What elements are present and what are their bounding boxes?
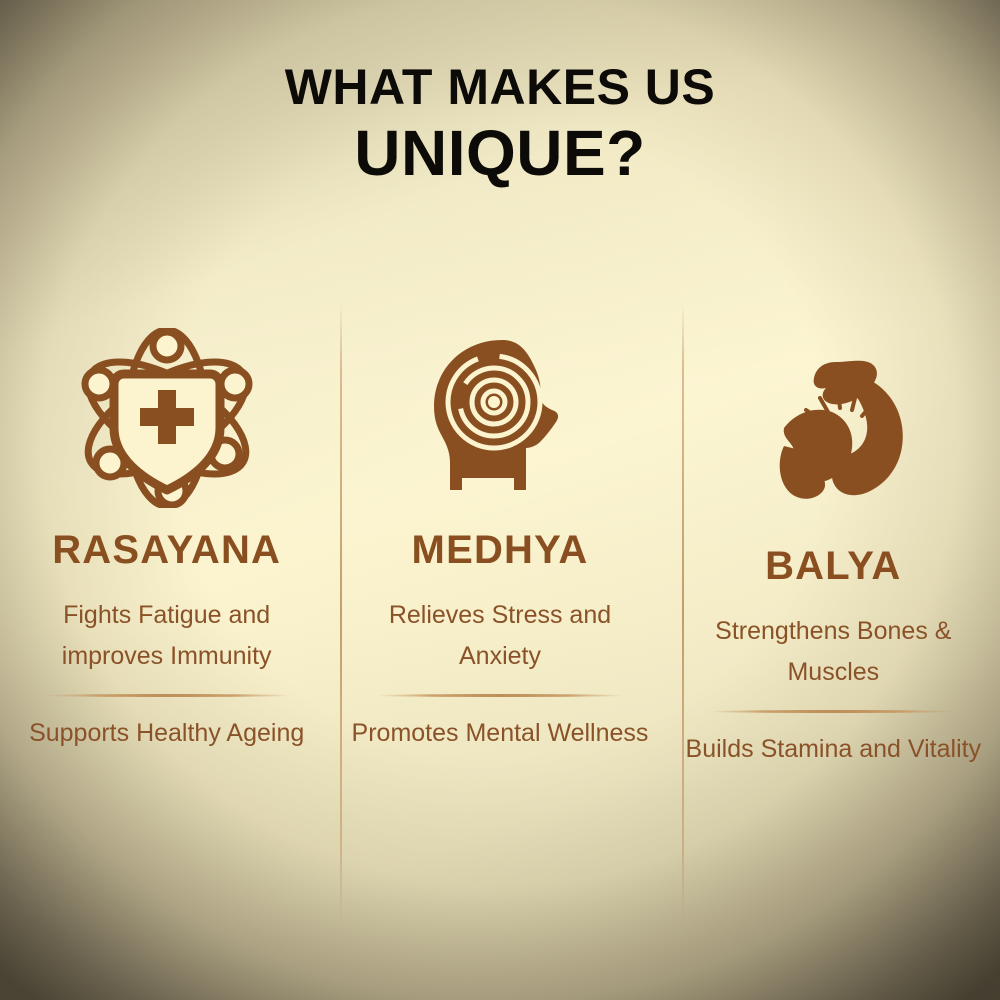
benefit-divider-medhya: [376, 694, 624, 697]
benefit-column-medhya: MEDHYA Relieves Stress and Anxiety Promo…: [333, 300, 666, 940]
benefit-divider-rasayana: [43, 694, 291, 697]
benefit-columns: RASAYANA Fights Fatigue and improves Imm…: [0, 300, 1000, 940]
benefit-primary-balya: Strengthens Bones & Muscles: [683, 611, 983, 692]
benefit-column-rasayana: RASAYANA Fights Fatigue and improves Imm…: [0, 300, 333, 940]
benefit-primary-medhya: Relieves Stress and Anxiety: [350, 595, 650, 676]
benefit-secondary-rasayana: Supports Healthy Ageing: [17, 713, 317, 754]
benefit-secondary-medhya: Promotes Mental Wellness: [350, 713, 650, 754]
column-title-medhya: MEDHYA: [412, 528, 589, 573]
title-line-2: UNIQUE?: [0, 118, 1000, 190]
shield-atom-immunity-icon: [62, 318, 272, 518]
title-line-1: WHAT MAKES US: [0, 62, 1000, 112]
column-title-balya: BALYA: [765, 544, 901, 589]
benefit-primary-rasayana: Fights Fatigue and improves Immunity: [17, 595, 317, 676]
flexed-bicep-muscle-icon: [748, 334, 918, 534]
page-title: WHAT MAKES US UNIQUE?: [0, 62, 1000, 190]
column-title-rasayana: RASAYANA: [52, 528, 281, 573]
benefit-column-balya: BALYA Strengthens Bones & Muscles Builds…: [667, 300, 1000, 940]
benefit-secondary-balya: Builds Stamina and Vitality: [683, 729, 983, 770]
head-mind-waves-icon: [410, 318, 590, 518]
infographic-poster: WHAT MAKES US UNIQUE?: [0, 0, 1000, 1000]
benefit-divider-balya: [709, 710, 957, 713]
